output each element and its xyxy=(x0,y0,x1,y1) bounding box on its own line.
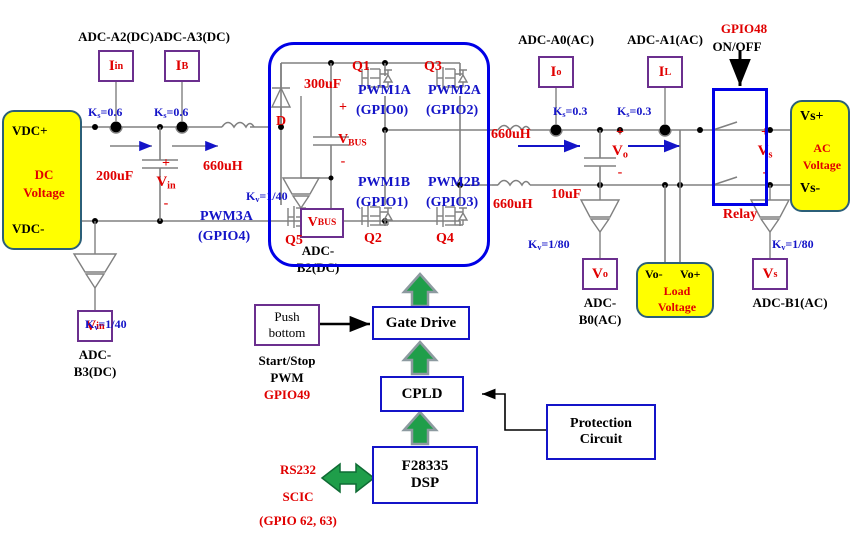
switch-pwm-q5: PWM3A xyxy=(200,210,253,225)
ac-voltage-source: Vs+ AC Voltage Vs- xyxy=(790,100,850,212)
push-note-gpio: GPIO49 xyxy=(264,388,310,402)
gain-kv-vo-val: =1/80 xyxy=(541,237,569,251)
gain-kv-vs-k: K xyxy=(772,237,781,251)
serial-gpio-label: (GPIO 62, 63) xyxy=(259,514,337,528)
gain-kv-vin-k: K xyxy=(85,317,94,331)
adc-channel-il: ADC-A1(AC) xyxy=(627,33,703,47)
adc-channel-vs: ADC-B1(AC) xyxy=(752,296,827,310)
label-vin-v: V xyxy=(156,174,167,190)
adc-subscript-io: o xyxy=(556,67,561,78)
adc-subscript-il: L xyxy=(665,67,672,78)
protection-line1: Protection xyxy=(570,416,632,432)
green-arrow-rs232 xyxy=(322,464,374,492)
serial-rs232-label: RS232 xyxy=(280,463,316,477)
switch-pwm-q4: PWM2B xyxy=(428,176,480,191)
switch-gpio-q5: (GPIO4) xyxy=(198,230,250,245)
adc-channel-vin-line1: ADC- xyxy=(79,348,112,362)
load-vo-plus-label: Vo+ xyxy=(680,268,700,281)
load-vo-minus-label: Vo- xyxy=(645,268,663,281)
switch-pwm-q1: PWM1A xyxy=(358,84,411,99)
green-arrow-cpld-to-gatedrive xyxy=(404,342,436,374)
load-name-line1: Load xyxy=(664,285,691,298)
vs-plus-label: Vs+ xyxy=(800,110,824,125)
dc-source-name-line1: DC xyxy=(35,168,54,182)
push-button-line2: bottom xyxy=(269,325,306,341)
protection-circuit-block[interactable]: Protection Circuit xyxy=(546,404,656,460)
label-vo-sub: o xyxy=(623,150,628,161)
relay-onoff-label: ON/OFF xyxy=(712,40,761,54)
dc-source-name-line2: Voltage xyxy=(23,186,64,200)
switch-pwm-q2: PWM1B xyxy=(358,176,410,191)
gain-ks-il-k: K xyxy=(617,104,626,118)
adc-channel-iin: ADC-A2(DC) xyxy=(78,30,154,44)
adc-box-il: IL xyxy=(647,56,683,88)
gain-kv-vin: Kv=1/40 xyxy=(85,318,127,333)
gain-kv-vo: Kv=1/80 xyxy=(528,238,570,253)
switch-ref-q2: Q2 xyxy=(364,232,382,247)
dsp-line2: DSP xyxy=(411,475,439,492)
gain-ks-iin-k: K xyxy=(88,105,97,119)
adc-box-vo: Vo xyxy=(582,258,618,290)
vo-polarity-plus: + xyxy=(616,126,624,141)
switch-ref-q5: Q5 xyxy=(285,234,303,249)
label-vin: Vin xyxy=(156,175,175,192)
ac-source-name-line1: AC xyxy=(813,142,830,155)
vdc-plus-label: VDC+ xyxy=(12,124,48,138)
label-input-capacitor: 200uF xyxy=(96,170,133,185)
adc-channel-vo-line1: ADC- xyxy=(584,296,617,310)
cpld-block[interactable]: CPLD xyxy=(380,376,464,412)
dsp-block[interactable]: F28335 DSP xyxy=(372,446,478,504)
adc-box-vs: Vs xyxy=(752,258,788,290)
adc-subscript-iin: in xyxy=(115,61,124,72)
adc-channel-ib: ADC-A3(DC) xyxy=(154,30,230,44)
vo-sense-ground xyxy=(581,185,619,258)
relay-gpio-label: GPIO48 xyxy=(721,22,767,36)
gain-ks-iin: Ks=0.6 xyxy=(88,106,122,121)
vin-polarity-minus: - xyxy=(164,197,169,212)
circuit-diagram-canvas: VDC+ DC Voltage VDC- Vs+ AC Voltage Vs- … xyxy=(0,0,852,538)
adc-box-ib: IB xyxy=(164,50,200,82)
gain-ks-il-val: =0.3 xyxy=(630,104,652,118)
adc-channel-vo-line2: B0(AC) xyxy=(579,313,622,327)
ac-source-name-line2: Voltage xyxy=(803,159,841,172)
switch-gpio-q4: (GPIO3) xyxy=(426,196,478,211)
serial-scic-label: SCIC xyxy=(282,490,313,504)
switch-ref-q1: Q1 xyxy=(352,60,370,75)
switch-ref-q4: Q4 xyxy=(436,232,454,247)
gain-ks-io-k: K xyxy=(553,104,562,118)
vs-minus-label: Vs- xyxy=(800,182,820,197)
gain-ks-ib-val: =0.6 xyxy=(167,105,189,119)
adc-symbol-vo: V xyxy=(592,266,603,283)
vin-polarity-plus: + xyxy=(162,157,170,172)
vdc-minus-label: VDC- xyxy=(12,222,45,236)
gain-ks-io-val: =0.3 xyxy=(566,104,588,118)
label-output-inductor-top: 660uH xyxy=(491,128,531,143)
gain-ks-ib: Ks=0.6 xyxy=(154,106,188,121)
switch-gpio-q3: (GPIO2) xyxy=(426,104,478,119)
protection-line2: Circuit xyxy=(580,432,623,448)
adc-subscript-vs: s xyxy=(773,269,777,280)
label-vo-v: V xyxy=(612,143,623,159)
switch-pwm-q3: PWM2A xyxy=(428,84,481,99)
dc-bottom-rail xyxy=(82,218,290,224)
label-input-inductor: 660uH xyxy=(203,160,243,175)
green-arrow-dsp-to-cpld xyxy=(404,412,436,444)
adc-subscript-ib: B xyxy=(182,61,189,72)
dc-voltage-source: VDC+ DC Voltage VDC- xyxy=(2,110,82,250)
label-vs-sub: s xyxy=(768,150,772,161)
push-note-line1: Start/Stop xyxy=(258,354,315,368)
gain-ks-iin-val: =0.6 xyxy=(101,105,123,119)
gain-kv-vs: Kv=1/80 xyxy=(772,238,814,253)
load-name-line2: Voltage xyxy=(658,301,696,314)
label-output-capacitor: 10uF xyxy=(551,188,581,203)
gain-ks-ib-k: K xyxy=(154,105,163,119)
gain-kv-vs-val: =1/80 xyxy=(785,237,813,251)
load-voltage-block: Vo- Vo+ Load Voltage xyxy=(636,262,714,318)
gain-kv-vin-val: =1/40 xyxy=(98,317,126,331)
label-output-inductor-bottom: 660uH xyxy=(493,198,533,213)
switch-gpio-q2: (GPIO1) xyxy=(356,196,408,211)
adc-channel-vin-line2: B3(DC) xyxy=(74,365,117,379)
adc-box-iin: Iin xyxy=(98,50,134,82)
relay-label: Relay xyxy=(723,208,757,223)
vo-polarity-minus: - xyxy=(618,166,623,181)
adc-symbol-vs: V xyxy=(763,266,774,283)
label-vin-sub: in xyxy=(167,181,176,192)
switch-ref-q3: Q3 xyxy=(424,60,442,75)
push-note-line2: PWM xyxy=(270,371,303,385)
gain-kv-vbus-k: K xyxy=(246,189,255,203)
load-connections xyxy=(665,130,680,262)
adc-channel-io: ADC-A0(AC) xyxy=(518,33,594,47)
adc-box-io: Io xyxy=(538,56,574,88)
relay-box[interactable] xyxy=(712,88,768,206)
adc-subscript-vo: o xyxy=(603,269,608,280)
label-vo: Vo xyxy=(612,144,628,161)
gain-ks-il: Ks=0.3 xyxy=(617,105,651,120)
gate-drive-block[interactable]: Gate Drive xyxy=(372,306,470,340)
push-button-line1: Push xyxy=(274,309,299,325)
switch-gpio-q1: (GPIO0) xyxy=(356,104,408,119)
green-arrow-gatedrive-to-converter xyxy=(404,274,436,306)
dsp-line1: F28335 xyxy=(402,458,449,475)
gain-kv-vo-k: K xyxy=(528,237,537,251)
gain-ks-io: Ks=0.3 xyxy=(553,105,587,120)
push-button-block[interactable]: Push bottom xyxy=(254,304,320,346)
